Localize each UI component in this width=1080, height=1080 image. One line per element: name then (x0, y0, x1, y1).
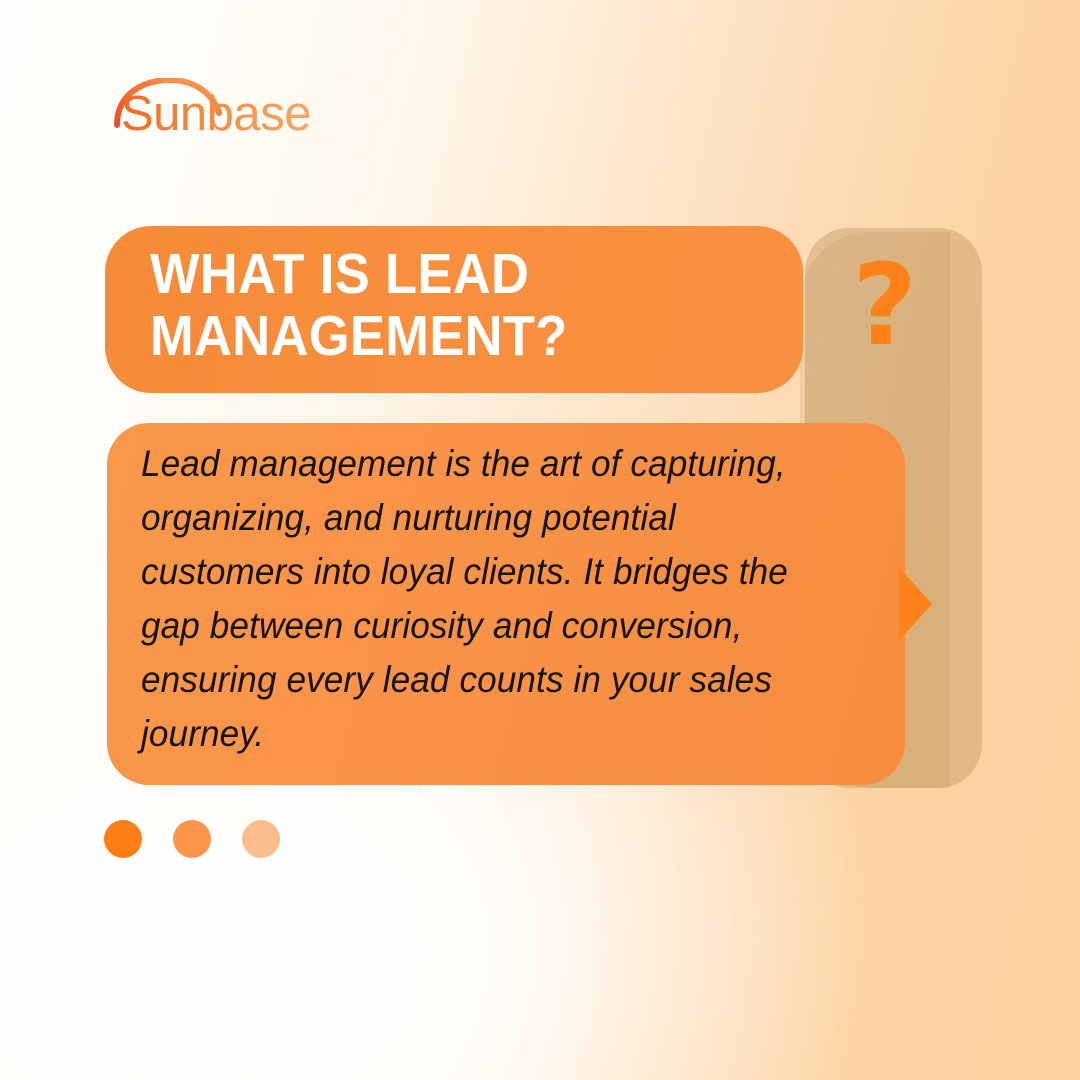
svg-text:Sunbase: Sunbase (121, 87, 311, 140)
pagination-dot-3[interactable] (242, 820, 280, 858)
pagination-dot-1[interactable] (104, 820, 142, 858)
pagination-dot-2[interactable] (173, 820, 211, 858)
sunbase-logo[interactable]: Sunbase (113, 78, 363, 140)
pagination-dots (104, 820, 280, 858)
body-paragraph: Lead management is the art of capturing,… (141, 437, 797, 761)
next-arrow-icon[interactable] (899, 567, 932, 641)
question-mark-icon: ? (852, 250, 917, 362)
slide-canvas: Sunbase WHAT IS LEAD MANAGEMENT? ? Lead … (0, 0, 1080, 1080)
page-title: WHAT IS LEAD MANAGEMENT? (150, 243, 748, 367)
sunbase-swoosh-logo: Sunbase (113, 78, 363, 140)
